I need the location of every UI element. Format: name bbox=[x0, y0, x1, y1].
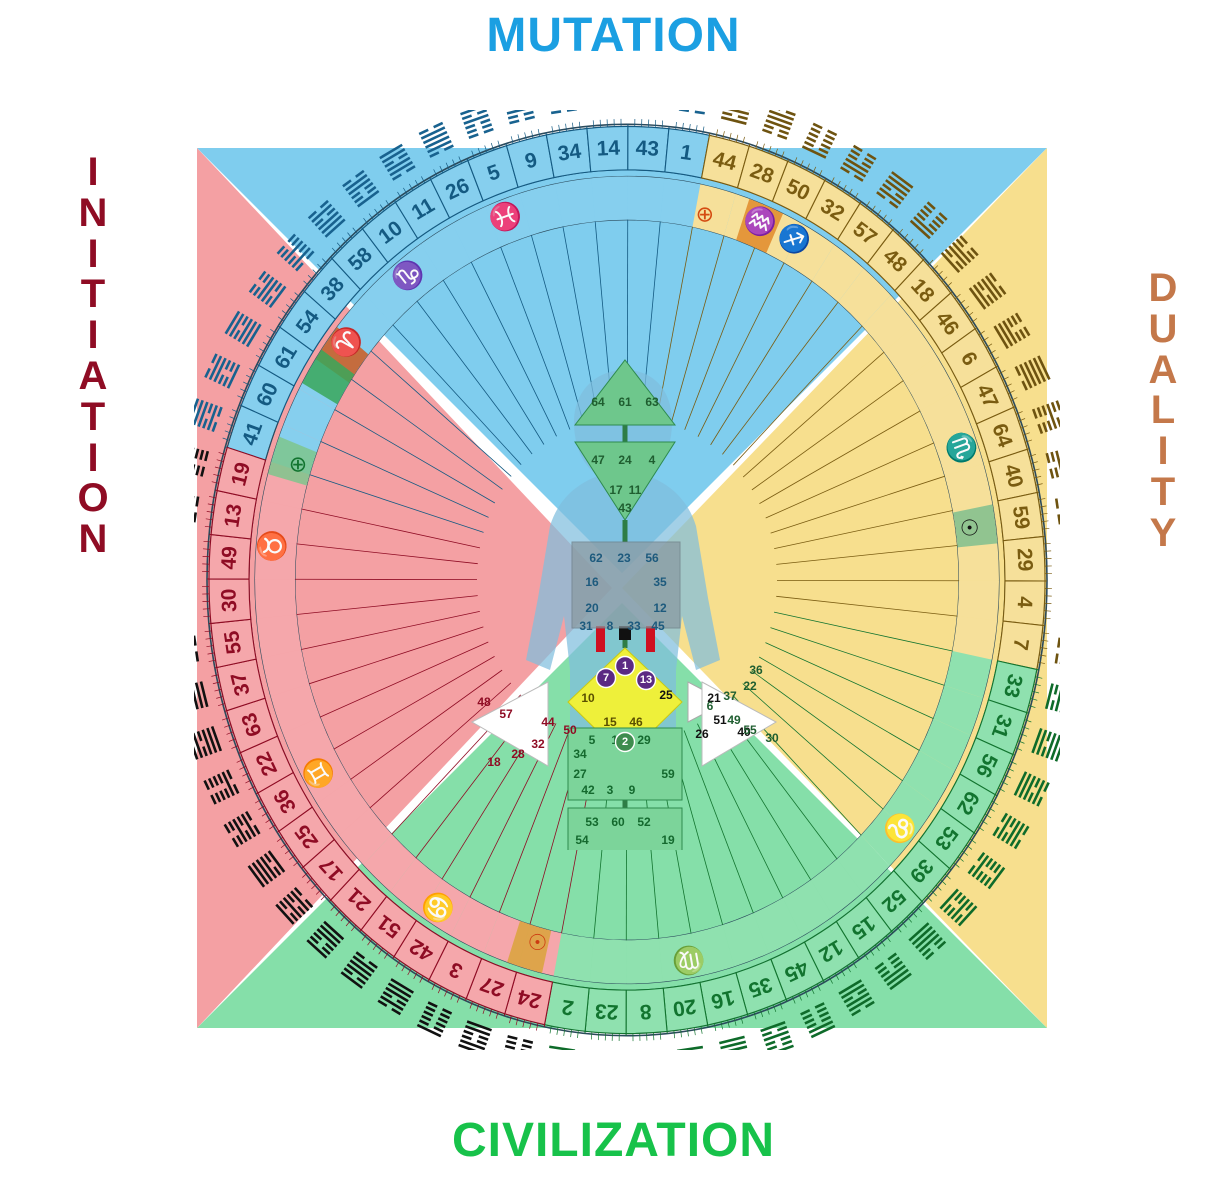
wheel-gate-number[interactable]: 29 bbox=[1013, 548, 1037, 572]
bodygraph-gate-number[interactable]: 20 bbox=[585, 601, 599, 615]
hexagram-icon bbox=[341, 951, 378, 989]
hexagram-icon bbox=[458, 1020, 492, 1050]
hexagram-icon bbox=[1055, 495, 1060, 525]
hexagram-icon bbox=[194, 493, 199, 523]
bodygraph-gate-number[interactable]: 36 bbox=[749, 663, 763, 677]
bodygraph-gate-number[interactable]: 56 bbox=[645, 551, 659, 565]
wheel-gate-number[interactable]: 8 bbox=[639, 1000, 652, 1024]
bodygraph-gate-number[interactable]: 60 bbox=[611, 815, 625, 829]
bodygraph-gate-number[interactable]: 49 bbox=[727, 713, 741, 727]
bodygraph-gate-number[interactable]: 6 bbox=[707, 699, 714, 713]
label-mutation: MUTATION bbox=[0, 8, 1227, 63]
hexagram-icon bbox=[377, 978, 414, 1015]
hexagram-icon bbox=[910, 201, 948, 239]
bodygraph-gate-number[interactable]: 26 bbox=[695, 727, 709, 741]
bodygraph-gate-number[interactable]: 24 bbox=[618, 453, 632, 467]
hexagram-icon bbox=[194, 445, 209, 477]
hexagram-icon bbox=[939, 889, 977, 927]
hexagram-icon bbox=[1045, 683, 1060, 715]
bodygraph-gate-number[interactable]: 12 bbox=[653, 601, 667, 615]
hexagram-icon bbox=[679, 110, 709, 115]
hexagram-icon bbox=[194, 398, 223, 432]
hexagram-icon bbox=[248, 850, 286, 887]
hexagram-icon bbox=[1015, 355, 1051, 390]
hexagram-icon bbox=[275, 887, 313, 925]
hexagram-icon bbox=[762, 110, 796, 140]
activation-badge-label: 1 bbox=[622, 660, 628, 672]
hexagram-icon bbox=[249, 271, 287, 308]
bodygraph-gate-number[interactable]: 37 bbox=[723, 689, 737, 703]
hexagram-icon bbox=[719, 1036, 751, 1050]
hexagram-icon bbox=[992, 813, 1029, 850]
bodygraph-gate-number[interactable]: 31 bbox=[579, 619, 593, 633]
bodygraph-gate-number[interactable]: 63 bbox=[645, 395, 659, 409]
label-letter: I bbox=[38, 152, 148, 193]
hexagram-icon bbox=[379, 144, 415, 181]
bodygraph-gate-number[interactable]: 33 bbox=[627, 619, 641, 633]
bodygraph-gate-number[interactable]: 62 bbox=[589, 551, 603, 565]
label-letter: D bbox=[1108, 268, 1218, 309]
hexagram-icon bbox=[760, 1021, 794, 1050]
bodygraph-gate-number[interactable]: 57 bbox=[499, 707, 513, 721]
hexagram-icon bbox=[545, 1045, 575, 1050]
bodygraph-gate-number[interactable]: 29 bbox=[637, 733, 651, 747]
bodygraph-gate-number[interactable]: 52 bbox=[637, 815, 651, 829]
bodygraph-gate-number[interactable]: 10 bbox=[581, 691, 595, 705]
bodygraph-gate-number[interactable]: 34 bbox=[573, 747, 587, 761]
hexagram-icon bbox=[277, 234, 315, 272]
activation-badge-label: 13 bbox=[640, 674, 652, 686]
bodygraph-gate-number[interactable]: 47 bbox=[591, 453, 605, 467]
hexagram-icon bbox=[460, 110, 494, 139]
label-initiation: INITIATION bbox=[38, 152, 148, 560]
bodygraph-gate-number[interactable]: 25 bbox=[659, 688, 673, 702]
hexagram-icon bbox=[342, 170, 379, 208]
hexagram-icon bbox=[194, 635, 199, 665]
bodygraph-gate-number[interactable]: 9 bbox=[629, 783, 636, 797]
hexagram-icon bbox=[968, 852, 1006, 889]
wheel-gate-number[interactable]: 4 bbox=[1013, 596, 1037, 609]
label-letter: T bbox=[38, 274, 148, 315]
label-letter: L bbox=[1108, 390, 1218, 431]
label-letter: I bbox=[38, 234, 148, 275]
label-letter: I bbox=[1108, 431, 1218, 472]
hexagram-icon bbox=[721, 110, 753, 125]
wheel-gate-number[interactable]: 34 bbox=[556, 140, 583, 166]
bodygraph-gate-number[interactable]: 28 bbox=[511, 747, 525, 761]
label-letter: O bbox=[38, 478, 148, 519]
label-letter: N bbox=[38, 519, 148, 560]
hexagram-icon bbox=[501, 1035, 533, 1050]
activation-badge-label: 7 bbox=[603, 672, 609, 684]
wheel-gate-number[interactable]: 20 bbox=[671, 994, 697, 1020]
bodygraph-gate-number[interactable]: 50 bbox=[563, 723, 577, 737]
hexagram-icon bbox=[969, 272, 1007, 309]
bodygraph-gate-number[interactable]: 4 bbox=[649, 453, 656, 467]
earth-personality-icon[interactable]: ⊕ bbox=[696, 202, 714, 227]
label-letter: T bbox=[38, 397, 148, 438]
bodygraph-gate-number[interactable]: 35 bbox=[653, 575, 667, 589]
bodygraph-gate-number[interactable]: 42 bbox=[581, 783, 595, 797]
hexagram-icon bbox=[306, 921, 344, 959]
activation-badge[interactable]: 2 bbox=[616, 733, 635, 752]
bodygraph-gate-number[interactable]: 16 bbox=[585, 575, 599, 589]
bodygraph-gate-number[interactable]: 3 bbox=[607, 783, 614, 797]
wheel-gate-number[interactable]: 14 bbox=[596, 137, 621, 161]
design-channel bbox=[596, 626, 605, 652]
hexagram-icon bbox=[204, 353, 240, 388]
hexagram-icon bbox=[908, 922, 946, 960]
bodygraph: 6461634724417114362235616352012318334510… bbox=[420, 330, 840, 850]
label-letter: I bbox=[38, 315, 148, 356]
label-letter: Y bbox=[1108, 513, 1218, 554]
sun-design-icon[interactable]: ☉ bbox=[528, 930, 548, 955]
hexagram-icon bbox=[838, 979, 874, 1016]
hexagram-icon bbox=[417, 1001, 452, 1037]
hexagram-icon bbox=[503, 110, 535, 124]
hexagram-icon bbox=[1045, 447, 1060, 479]
hexagram-icon bbox=[800, 1002, 835, 1038]
label-letter: T bbox=[1108, 472, 1218, 513]
hexagram-icon bbox=[194, 726, 222, 760]
bodygraph-gate-number[interactable]: 30 bbox=[765, 731, 779, 745]
bodygraph-gate-number[interactable]: 8 bbox=[607, 619, 614, 633]
bodygraph-gate-number[interactable]: 53 bbox=[585, 815, 599, 829]
bodygraph-gate-number[interactable]: 18 bbox=[487, 755, 501, 769]
label-letter: N bbox=[38, 193, 148, 234]
wheel-gate-number[interactable]: 55 bbox=[220, 629, 246, 656]
hexagram-icon bbox=[1031, 728, 1060, 762]
label-letter: A bbox=[38, 356, 148, 397]
hexagram-icon bbox=[419, 122, 454, 158]
bodygraph-gate-number[interactable]: 46 bbox=[629, 715, 643, 729]
bodygraph-gate-number[interactable]: 55 bbox=[743, 723, 757, 737]
label-letter: I bbox=[38, 438, 148, 479]
bodygraph-gate-number[interactable]: 54 bbox=[575, 833, 589, 847]
bodygraph-gate-number[interactable]: 22 bbox=[743, 679, 757, 693]
hexagram-icon bbox=[1014, 771, 1050, 806]
bodygraph-gate-number[interactable]: 19 bbox=[661, 833, 675, 847]
hexagram-icon bbox=[941, 235, 979, 273]
hexagram-icon bbox=[802, 123, 837, 159]
wheel-gate-number[interactable]: 59 bbox=[1008, 504, 1034, 530]
hexagram-icon bbox=[1032, 400, 1060, 434]
activation-badge[interactable]: 13 bbox=[637, 671, 656, 690]
label-letter: A bbox=[1108, 350, 1218, 391]
bodygraph-gate-number[interactable]: 59 bbox=[661, 767, 675, 781]
rave-mandala-page: MUTATION CIVILIZATION INITIATION DUALITY… bbox=[0, 0, 1227, 1202]
bodygraph-gate-number[interactable]: 48 bbox=[477, 695, 491, 709]
bodygraph-gate-number[interactable]: 43 bbox=[618, 501, 632, 515]
hexagram-icon bbox=[547, 110, 577, 114]
earth-design-icon[interactable]: ⊕ bbox=[289, 451, 307, 476]
sun-personality-icon[interactable]: ☉ bbox=[960, 515, 980, 540]
bodygraph-gate-number[interactable]: 15 bbox=[603, 715, 617, 729]
wheel-gate-number[interactable]: 43 bbox=[635, 137, 660, 161]
bodygraph-gate-number[interactable]: 45 bbox=[651, 619, 665, 633]
hexagram-icon bbox=[225, 311, 262, 348]
bodygraph-gate-number[interactable]: 23 bbox=[617, 551, 631, 565]
bodygraph-gate-number[interactable]: 44 bbox=[541, 715, 555, 729]
wheel-gate-number[interactable]: 13 bbox=[220, 502, 246, 529]
wheel-gate-number[interactable]: 49 bbox=[217, 546, 241, 571]
wheel-gate-number[interactable]: 30 bbox=[217, 588, 241, 612]
bodygraph-gate-number[interactable]: 5 bbox=[589, 733, 596, 747]
hexagram-icon bbox=[203, 769, 239, 804]
bodygraph-gate-number[interactable]: 32 bbox=[531, 737, 545, 751]
bodygraph-gate-number[interactable]: 64 bbox=[591, 395, 605, 409]
hexagram-icon bbox=[308, 200, 346, 238]
hexagram-icon bbox=[876, 171, 913, 209]
bodygraph-gate-number[interactable]: 51 bbox=[713, 713, 727, 727]
hexagram-icon bbox=[840, 145, 877, 182]
label-duality: DUALITY bbox=[1108, 268, 1218, 554]
activation-badge-label: 2 bbox=[622, 736, 628, 748]
zodiac-taurus-icon: ♉ bbox=[255, 528, 289, 564]
label-letter: U bbox=[1108, 309, 1218, 350]
zodiac-virgo-icon: ♍ bbox=[670, 943, 708, 979]
hexagram-icon bbox=[677, 1046, 707, 1050]
activation-badge[interactable]: 7 bbox=[597, 669, 616, 688]
activation-badge[interactable]: 1 bbox=[616, 657, 635, 676]
hexagram-icon bbox=[993, 313, 1030, 349]
bodygraph-gate-number[interactable]: 61 bbox=[618, 395, 632, 409]
bodygraph-gate-number[interactable]: 11 bbox=[629, 483, 642, 497]
hexagram-icon bbox=[1055, 638, 1060, 668]
hexagram-icon bbox=[194, 681, 209, 713]
wheel-gate-number[interactable]: 23 bbox=[594, 999, 619, 1023]
hexagram-icon bbox=[224, 811, 261, 847]
bodygraph-gate-number[interactable]: 17 bbox=[609, 483, 623, 497]
bodygraph-gate-number[interactable]: 27 bbox=[573, 767, 587, 781]
hexagram-icon bbox=[875, 953, 912, 991]
label-civilization: CIVILIZATION bbox=[0, 1113, 1227, 1168]
